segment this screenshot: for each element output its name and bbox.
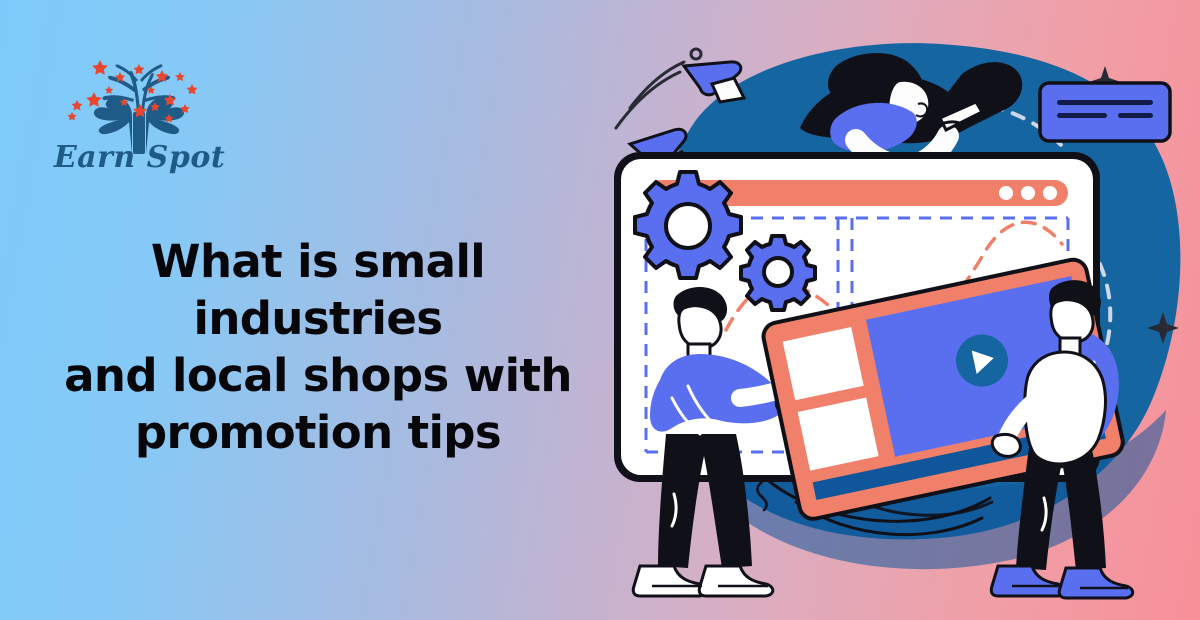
headline-line-3: and local shops with: [18, 347, 618, 404]
shoe-icon-right-b: [1059, 568, 1133, 598]
small-gear: [741, 236, 815, 310]
brand-logo[interactable]: Earn Spot: [52, 42, 227, 197]
brand-name: Earn Spot: [52, 140, 227, 175]
motion-lines: [616, 49, 701, 128]
window-dots: [999, 186, 1057, 200]
dot-icon-1: [1134, 280, 1158, 304]
headline-line-4: promotion tips: [18, 404, 618, 461]
hand-icon-right: [992, 434, 1020, 456]
video-marketing-team-illustration: [600, 0, 1200, 620]
left-content-column: Earn Spot What is small industries and l…: [0, 0, 620, 620]
shoe-icon-left-a: [633, 566, 707, 596]
large-gear: [635, 172, 741, 278]
headline-line-1: What is small: [18, 233, 618, 290]
shoe-icon-right-a: [991, 566, 1065, 596]
shoe-icon-left-b: [699, 566, 773, 596]
hero-banner: Earn Spot What is small industries and l…: [0, 0, 1200, 620]
message-card[interactable]: [1040, 83, 1170, 141]
page-title: What is small industries and local shops…: [18, 233, 618, 461]
headline-line-2: industries: [18, 290, 618, 347]
